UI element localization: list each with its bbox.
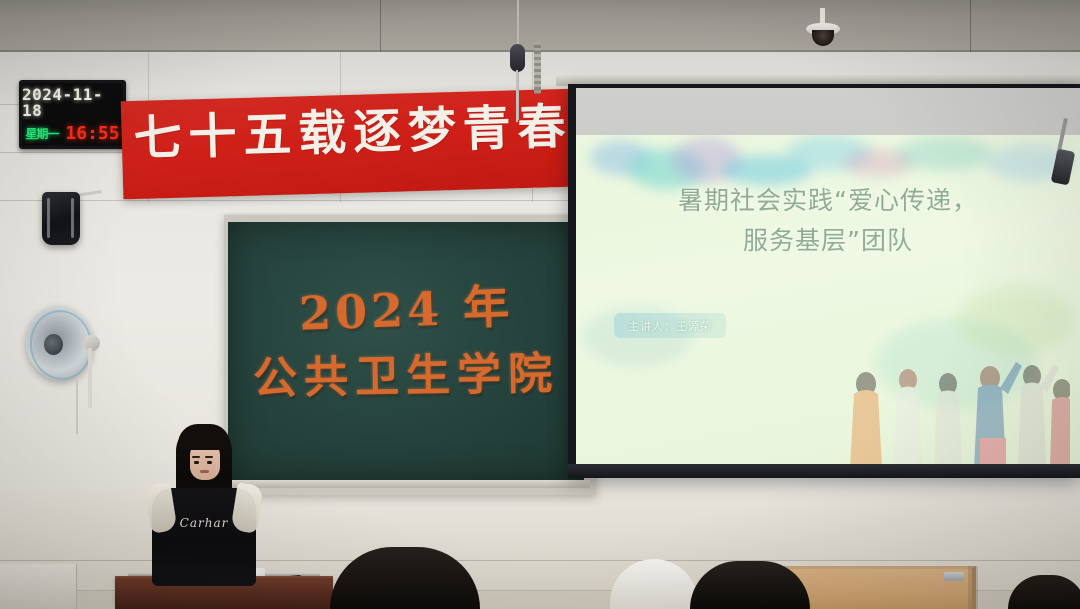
chalk-tray: [222, 480, 590, 488]
side-cabinet: [0, 564, 77, 609]
presenter-brow: [205, 456, 213, 458]
blackboard: 2024 年 公共卫生学院: [228, 222, 584, 480]
hoodie-logo: Carhar: [176, 516, 232, 530]
fan-pull-cord[interactable]: [76, 380, 78, 434]
banner-char: 青: [462, 104, 511, 153]
wall-speaker-icon: [42, 192, 80, 245]
ceiling-seam: [970, 0, 971, 52]
cord-knob[interactable]: [510, 44, 525, 72]
cord-hook: [534, 42, 541, 94]
slide-title-line-1: 暑期社会实践“爱心传递，: [604, 181, 1052, 221]
watercolor-blob: [956, 285, 1076, 355]
fan-pole: [88, 348, 92, 408]
led-weekday: 星期一: [25, 128, 58, 140]
presenter-mouth: [200, 470, 209, 473]
banner-char: 五: [243, 111, 292, 160]
blackboard-line-1: 2024 年: [228, 268, 584, 346]
lecture-hall-photo: 2024-11-18 星期一 16:55 七 十 五 载 逐 梦 青 春 202…: [0, 0, 1080, 609]
banner-char: 梦: [407, 106, 456, 155]
slide-title: 暑期社会实践“爱心传递， 服务基层”团队: [604, 181, 1052, 261]
banner-char: 春: [517, 103, 566, 152]
presenter-label: 主讲人：王源荣: [614, 313, 726, 338]
blackboard-line-2: 公共卫生学院: [228, 337, 584, 407]
cord-tail: [516, 70, 518, 122]
banner-char: 逐: [352, 108, 401, 157]
banner-char: 载: [298, 109, 347, 158]
banner-text: 七 十 五 载 逐 梦 青 春: [133, 98, 566, 168]
door-plate: [944, 572, 964, 581]
red-banner: 七 十 五 载 逐 梦 青 春: [121, 89, 576, 200]
slide-title-line-2: 服务基层”团队: [604, 221, 1052, 261]
banner-char: 十: [188, 112, 237, 161]
fan-mount: [84, 335, 100, 351]
presenter-eye: [207, 461, 212, 464]
crowd-illustration: [840, 350, 1070, 468]
led-time: 16:55: [65, 125, 119, 143]
door-frame-shadow: [968, 566, 978, 609]
projector-screen: 暑期社会实践“爱心传递， 服务基层”团队 主讲人：王源荣: [576, 88, 1080, 468]
watercolor-blob: [896, 137, 992, 171]
presentation-slide: 暑期社会实践“爱心传递， 服务基层”团队 主讲人：王源荣: [576, 135, 1080, 468]
fan-hub: [44, 334, 63, 355]
led-date: 2024-11-18: [22, 87, 123, 119]
presenter-hair-front: [178, 424, 230, 450]
ceiling-seam: [380, 0, 381, 52]
led-clock: 2024-11-18 星期一 16:55: [19, 80, 126, 149]
projector-screen-bottom-bar: [568, 464, 1080, 478]
presenter-eye: [194, 461, 199, 464]
banner-char: 七: [133, 114, 182, 163]
presenter-brow: [192, 456, 200, 458]
